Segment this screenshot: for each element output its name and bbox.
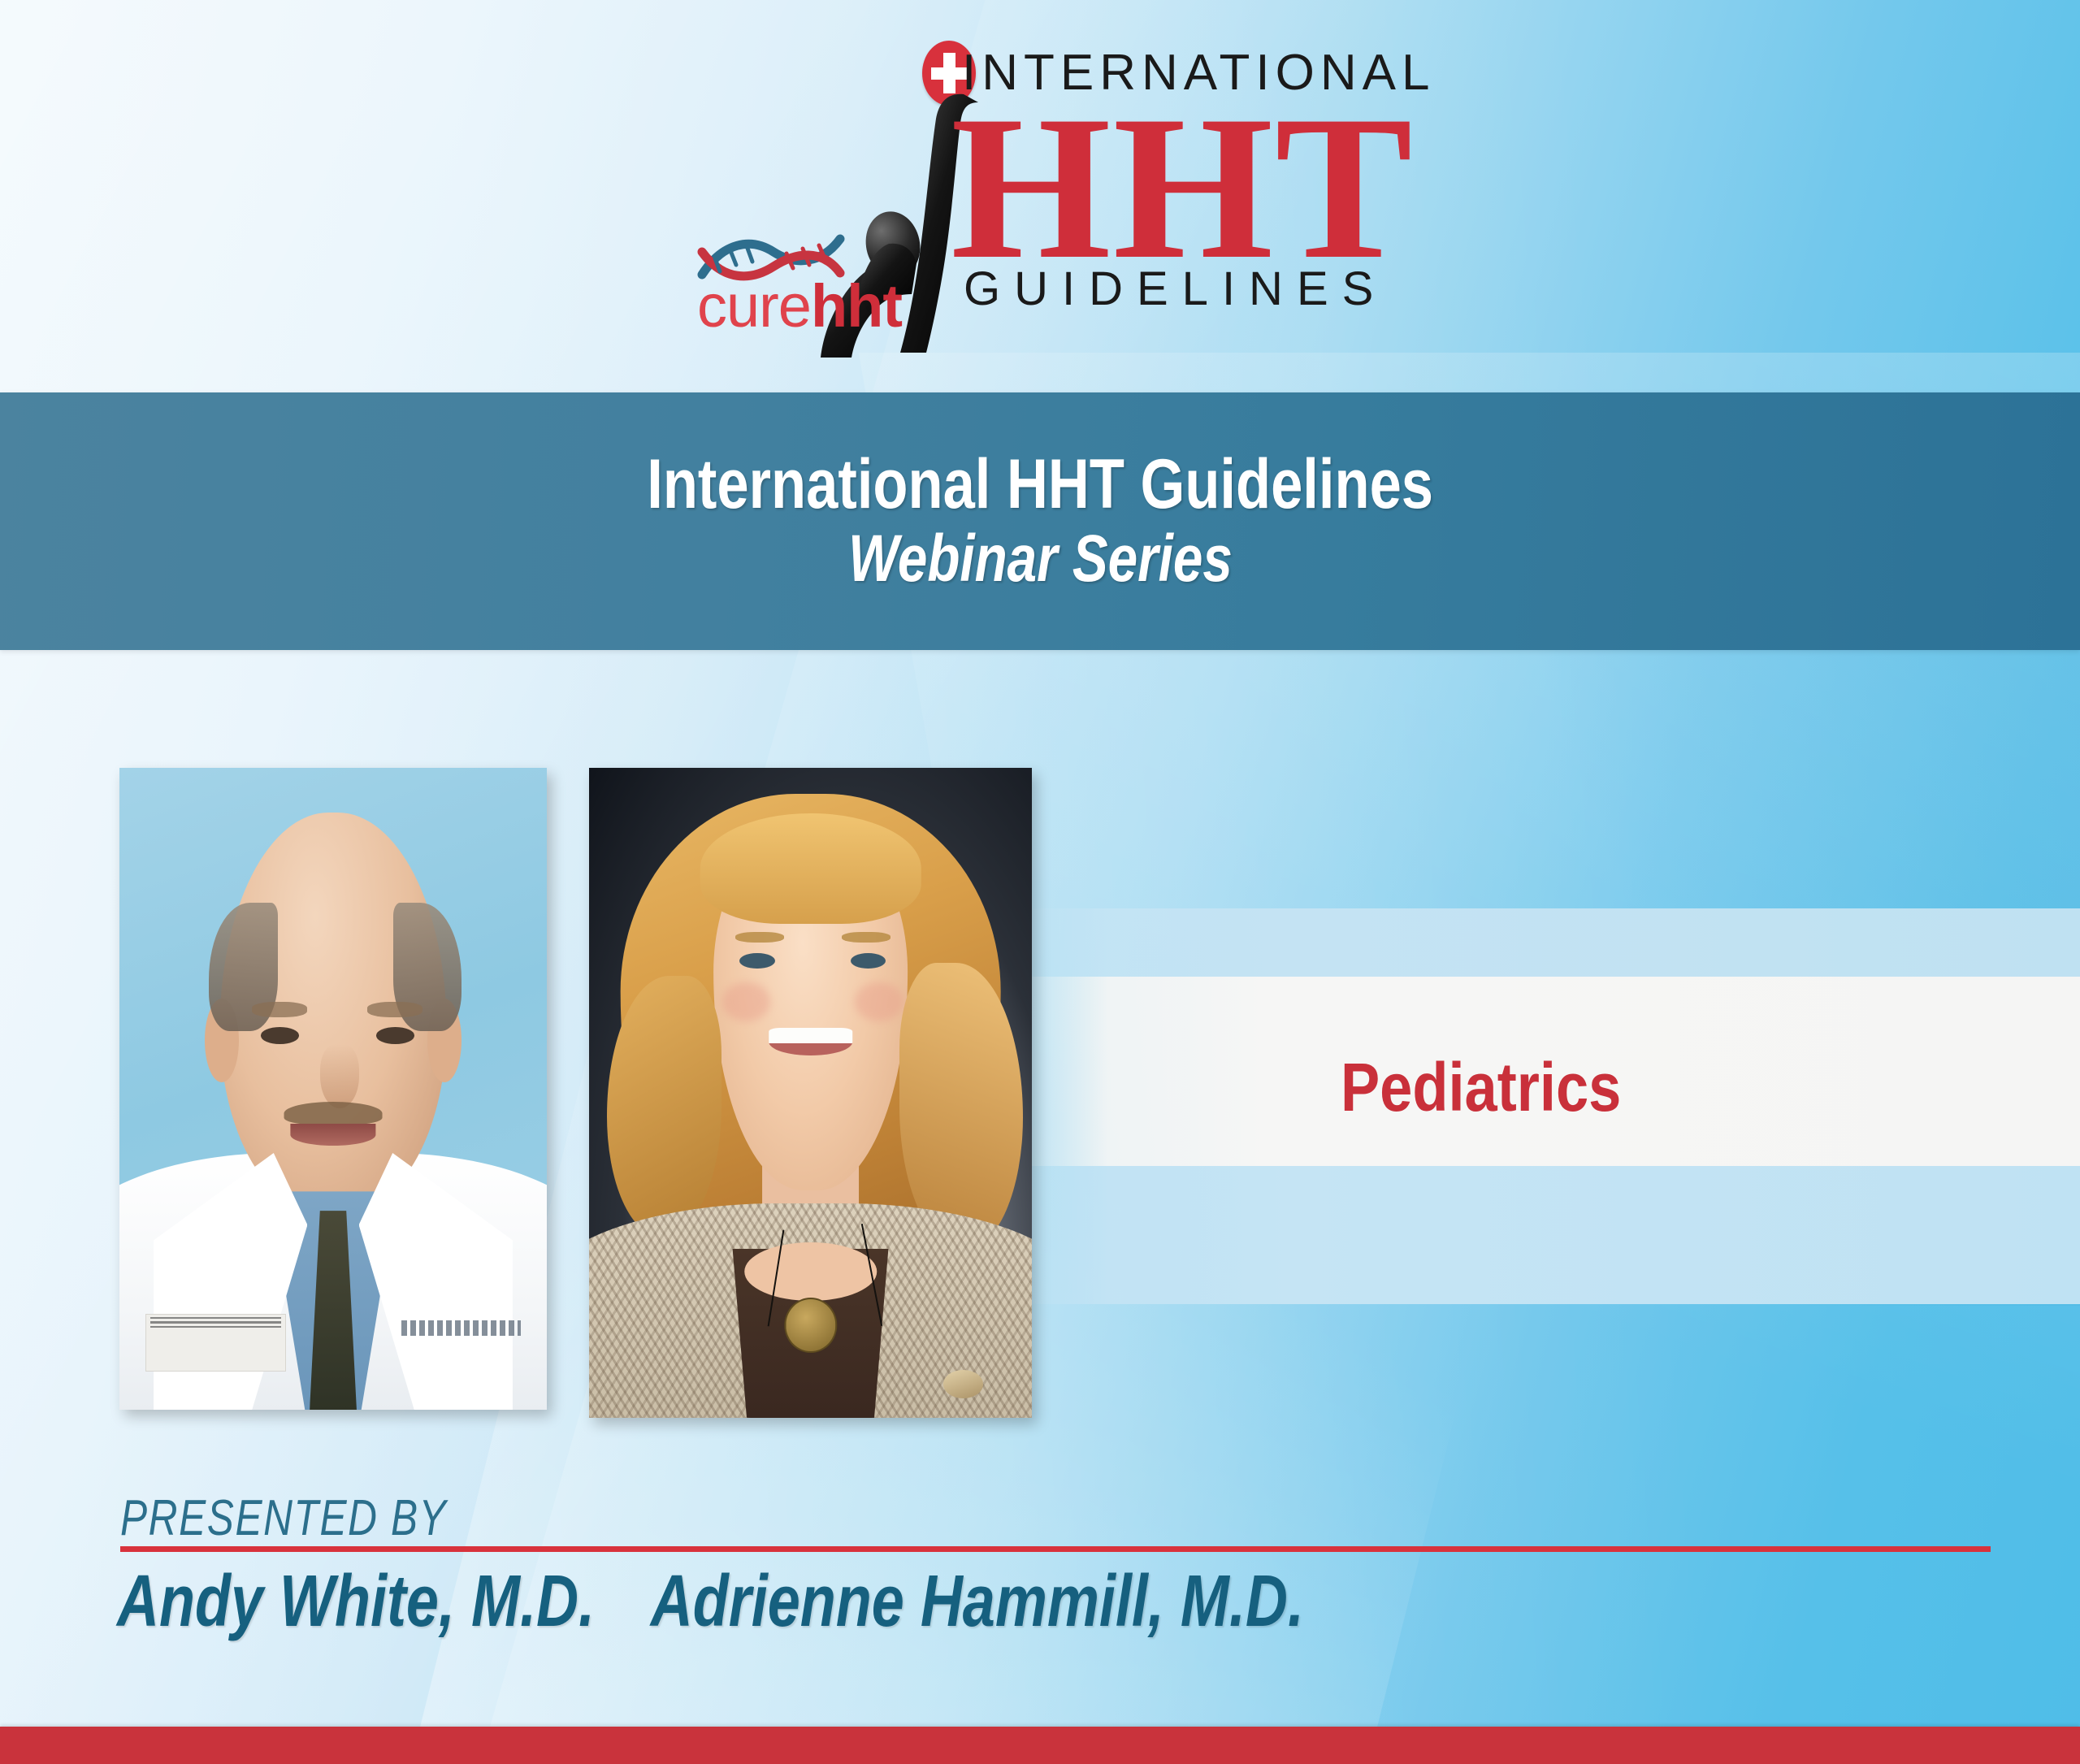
speaker-name-2: Adrienne Hammill, M.D.: [651, 1560, 1304, 1644]
logo-acronym-hht: HHT: [951, 89, 1415, 285]
page-title: International HHT Guidelines: [647, 448, 1433, 522]
presented-by-label: PRESENTED BY: [120, 1489, 447, 1547]
page-subtitle: Webinar Series: [848, 523, 1233, 596]
sweater-button: [943, 1370, 983, 1398]
footer-accent-bar: [0, 1727, 2080, 1764]
necklace-pendant: [784, 1298, 837, 1353]
speaker-name-1: Andy White, M.D.: [117, 1560, 595, 1644]
accent-band-pale-top: [1012, 908, 2080, 977]
accent-band-pale-bottom: [1012, 1166, 2080, 1304]
speaker-names: Andy White, M.D. Adrienne Hammill, M.D.: [117, 1560, 1304, 1644]
lab-coat-embroidery: [401, 1320, 521, 1336]
hht-guidelines-logo: INTERNATIONAL HHT GUIDELINES: [0, 18, 2080, 375]
curehht-wordmark: curehht: [682, 228, 918, 349]
title-banner: International HHT Guidelines Webinar Ser…: [0, 392, 2080, 650]
speaker-photo-adrienne-hammill: [589, 768, 1032, 1418]
speaker-photo-andy-white: [119, 768, 547, 1410]
webinar-title-slide: INTERNATIONAL HHT GUIDELINES: [0, 0, 2080, 1764]
topic-label: Pediatrics: [1341, 1048, 1621, 1127]
curehht-cure: cure: [697, 272, 811, 340]
curehht-hht: hht: [811, 272, 902, 340]
curehht-text: curehht: [697, 276, 902, 336]
logo-line-guidelines: GUIDELINES: [964, 262, 1387, 316]
divider-rule: [120, 1546, 1991, 1552]
lab-coat-badge: [145, 1314, 287, 1372]
